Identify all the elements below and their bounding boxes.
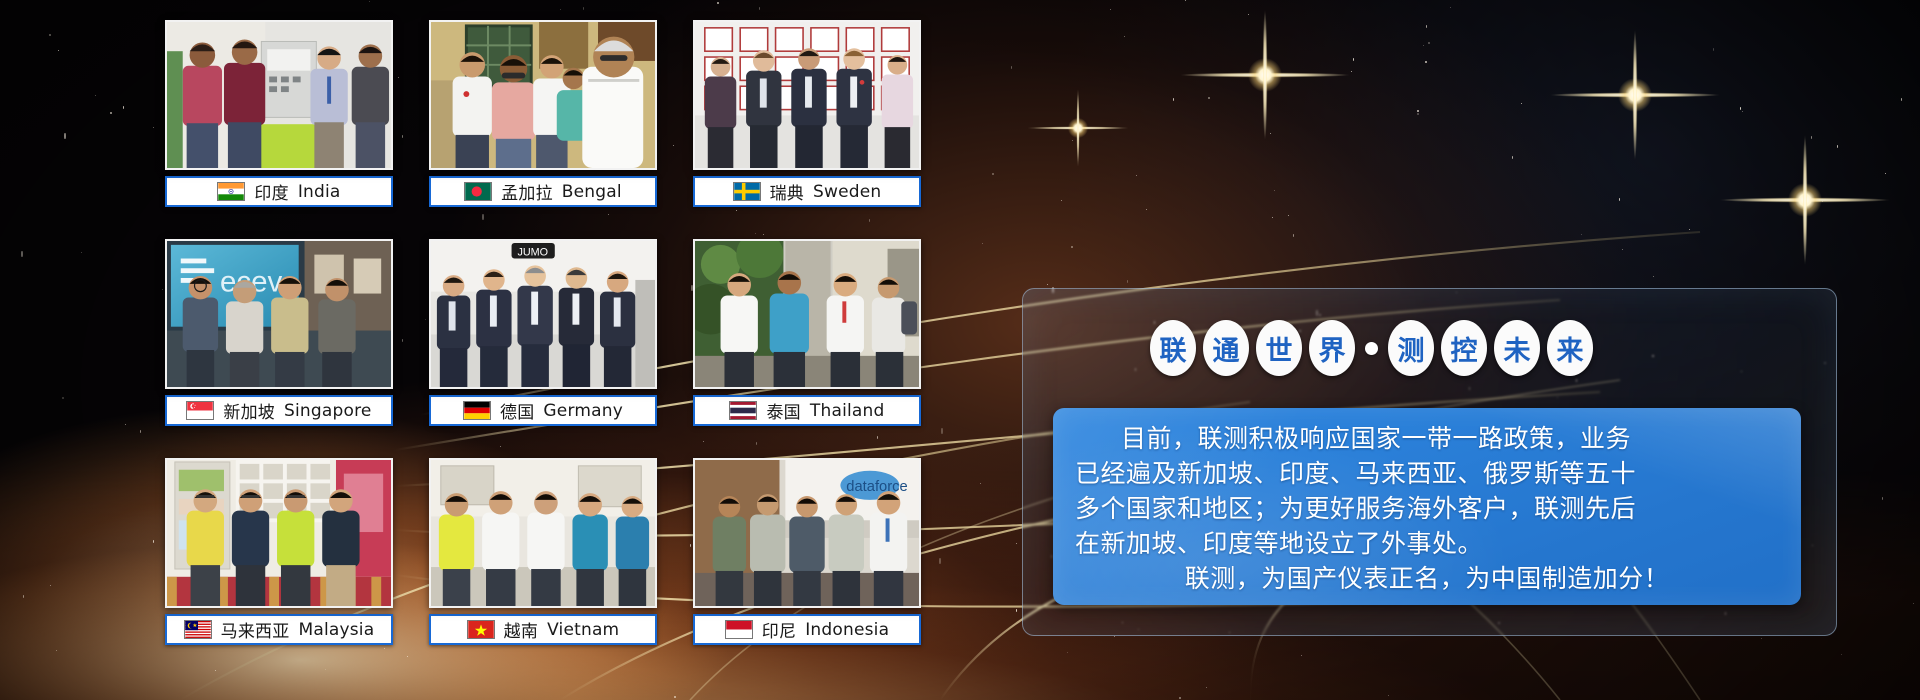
flag-germany-icon: [463, 401, 491, 420]
photo-vietnam: [429, 458, 657, 608]
caption-bengal: 孟加拉Bengal: [429, 176, 657, 207]
description-line-3: 多个国家和地区；为更好服务海外客户，联测先后: [1075, 491, 1779, 526]
caption-singapore: 新加坡Singapore: [165, 395, 393, 426]
photo-card-sweden[interactable]: 瑞典Sweden: [693, 20, 921, 207]
photo-malaysia: [165, 458, 393, 608]
slogan-char-1: 通: [1203, 320, 1249, 376]
photo-card-bengal[interactable]: 孟加拉Bengal: [429, 20, 657, 207]
slogan-char-0: 联: [1150, 320, 1196, 376]
caption-label-en-indonesia: Indonesia: [805, 620, 889, 640]
slogan-char-7: 来: [1547, 320, 1593, 376]
photo-germany: JUMO: [429, 239, 657, 389]
slogan-separator-dot: [1365, 342, 1378, 355]
caption-label-singapore: 新加坡: [223, 398, 275, 423]
flag-bangladesh-icon: [464, 182, 492, 201]
photo-scene-thailand: [695, 241, 919, 387]
caption-label-en-vietnam: Vietnam: [547, 620, 619, 640]
photo-card-germany[interactable]: JUMO 德国Germany: [429, 239, 657, 426]
banner-stage: 印度India 孟加拉Bengal 瑞典Sweden ecev 新加坡Singa…: [0, 0, 1920, 700]
photo-card-thailand[interactable]: 泰国Thailand: [693, 239, 921, 426]
caption-malaysia: 马来西亚Malaysia: [165, 614, 393, 645]
caption-label-germany: 德国: [500, 398, 534, 423]
photo-singapore: ecev: [165, 239, 393, 389]
photo-scene-india: [167, 22, 391, 168]
caption-germany: 德国Germany: [429, 395, 657, 426]
description-line-2: 已经遍及新加坡、印度、马来西亚、俄罗斯等五十: [1075, 456, 1779, 491]
svg-text:JUMO: JUMO: [517, 247, 548, 259]
photo-card-malaysia[interactable]: 马来西亚Malaysia: [165, 458, 393, 645]
caption-thailand: 泰国Thailand: [693, 395, 921, 426]
flag-india-icon: [217, 182, 245, 201]
description-line-4: 在新加坡、印度等地设立了外事处。: [1075, 526, 1779, 561]
photo-india: [165, 20, 393, 170]
caption-label-en-bengal: Bengal: [562, 182, 622, 202]
description-line-1: 目前，联测积极响应国家一带一路政策，业务: [1075, 421, 1779, 456]
photo-scene-vietnam: [431, 460, 655, 606]
caption-label-en-malaysia: Malaysia: [298, 620, 374, 640]
caption-label-sweden: 瑞典: [770, 179, 804, 204]
caption-label-malaysia: 马来西亚: [221, 617, 290, 642]
flag-thailand-icon: [729, 401, 757, 420]
title-char-0: 一: [1020, 59, 1138, 177]
caption-label-en-thailand: Thailand: [810, 401, 885, 421]
caption-sweden: 瑞典Sweden: [693, 176, 921, 207]
slogan-char-3: 界: [1309, 320, 1355, 376]
photo-thailand: [693, 239, 921, 389]
title-char-3: 路: [1510, 43, 1660, 193]
photo-card-vietnam[interactable]: 越南Vietnam: [429, 458, 657, 645]
slogan-char-2: 世: [1256, 320, 1302, 376]
photo-scene-indonesia: dataforce: [695, 460, 919, 606]
description-line-5: 联测，为国产仪表正名，为中国制造加分！: [1075, 561, 1779, 596]
title-char-2: 一: [1357, 59, 1475, 177]
photo-scene-malaysia: [167, 460, 391, 606]
country-photo-grid: 印度India 孟加拉Bengal 瑞典Sweden ecev 新加坡Singa…: [165, 20, 921, 645]
description-box: 目前，联测积极响应国家一带一路政策，业务 已经遍及新加坡、印度、马来西亚、俄罗斯…: [1053, 408, 1801, 605]
caption-label-en-sweden: Sweden: [813, 182, 881, 202]
photo-sweden: [693, 20, 921, 170]
caption-label-en-singapore: Singapore: [284, 401, 372, 421]
photo-scene-sweden: [695, 22, 919, 168]
slogan-char-4: 测: [1388, 320, 1434, 376]
belt-and-road-title: 一 带 一 路: [1020, 10, 1660, 225]
photo-card-indonesia[interactable]: dataforce 印尼Indonesia: [693, 458, 921, 645]
photo-scene-bengal: [431, 22, 655, 168]
slogan-char-6: 未: [1494, 320, 1540, 376]
flag-sweden-icon: [733, 182, 761, 201]
caption-label-india: 印度: [254, 179, 288, 204]
caption-india: 印度India: [165, 176, 393, 207]
photo-card-singapore[interactable]: ecev 新加坡Singapore: [165, 239, 393, 426]
flag-singapore-icon: [186, 401, 214, 420]
caption-label-en-india: India: [298, 182, 341, 202]
caption-indonesia: 印尼Indonesia: [693, 614, 921, 645]
photo-bengal: [429, 20, 657, 170]
photo-indonesia: dataforce: [693, 458, 921, 608]
caption-vietnam: 越南Vietnam: [429, 614, 657, 645]
photo-scene-singapore: ecev: [167, 241, 391, 387]
title-char-1: 带: [1173, 43, 1323, 193]
caption-label-bengal: 孟加拉: [501, 179, 553, 204]
flag-indonesia-icon: [725, 620, 753, 639]
caption-label-vietnam: 越南: [504, 617, 538, 642]
flag-vietnam-icon: [467, 620, 495, 639]
caption-label-indonesia: 印尼: [762, 617, 796, 642]
caption-label-thailand: 泰国: [766, 398, 800, 423]
company-slogan: 联 通 世 界 测 控 未 来: [1150, 320, 1593, 376]
photo-scene-germany: JUMO: [431, 241, 655, 387]
flag-malaysia-icon: [184, 620, 212, 639]
slogan-char-5: 控: [1441, 320, 1487, 376]
caption-label-en-germany: Germany: [543, 401, 623, 421]
svg-text:dataforce: dataforce: [846, 479, 907, 495]
photo-card-india[interactable]: 印度India: [165, 20, 393, 207]
